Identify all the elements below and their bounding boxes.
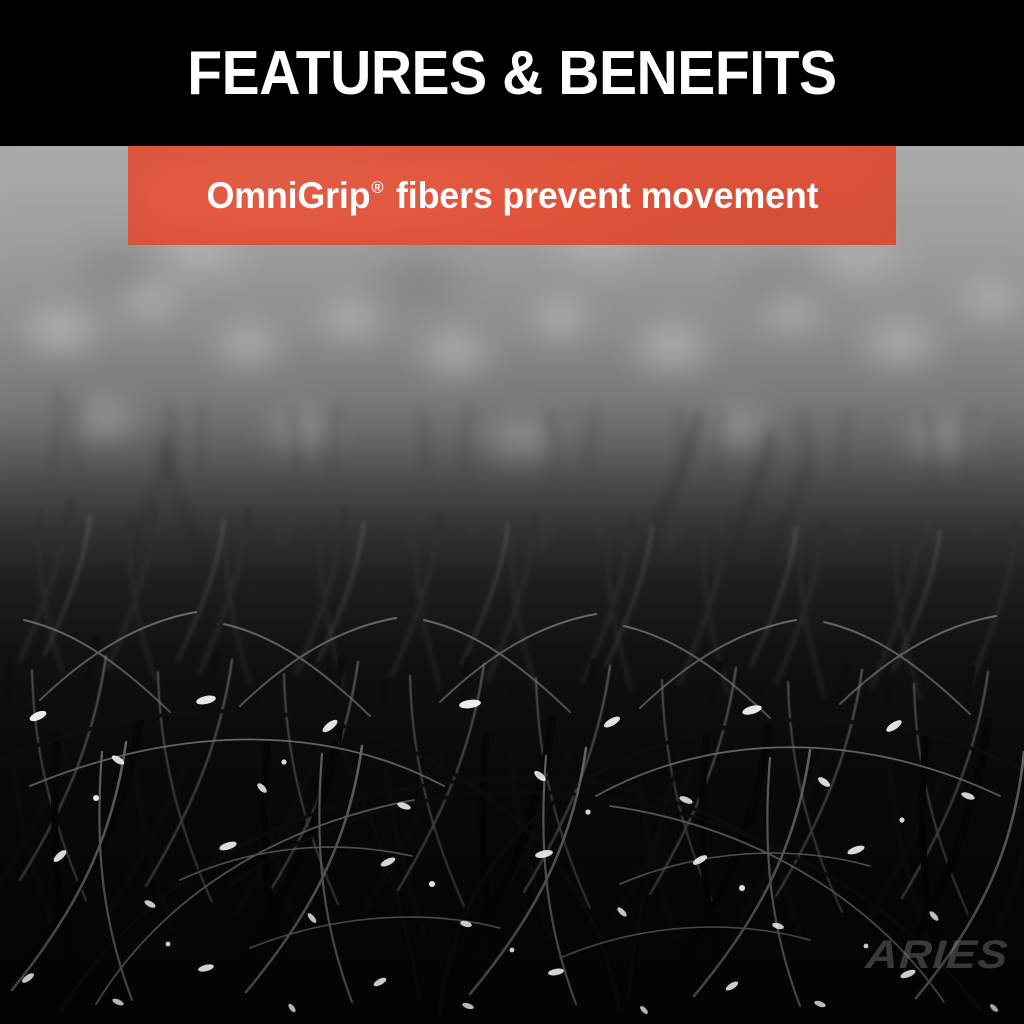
brand-name: OmniGrip	[206, 175, 370, 216]
feature-callout-text: OmniGrip® fibers prevent movement	[206, 177, 818, 214]
registered-trademark-icon: ®	[371, 178, 383, 197]
header-band: FEATURES & BENEFITS	[0, 0, 1024, 146]
product-feature-card: ARIES FEATURES & BENEFITS OmniGrip® fibe…	[0, 0, 1024, 1024]
feature-description: fibers prevent movement	[386, 175, 818, 216]
page-title: FEATURES & BENEFITS	[187, 43, 836, 105]
feature-callout-banner: OmniGrip® fibers prevent movement	[128, 146, 896, 245]
